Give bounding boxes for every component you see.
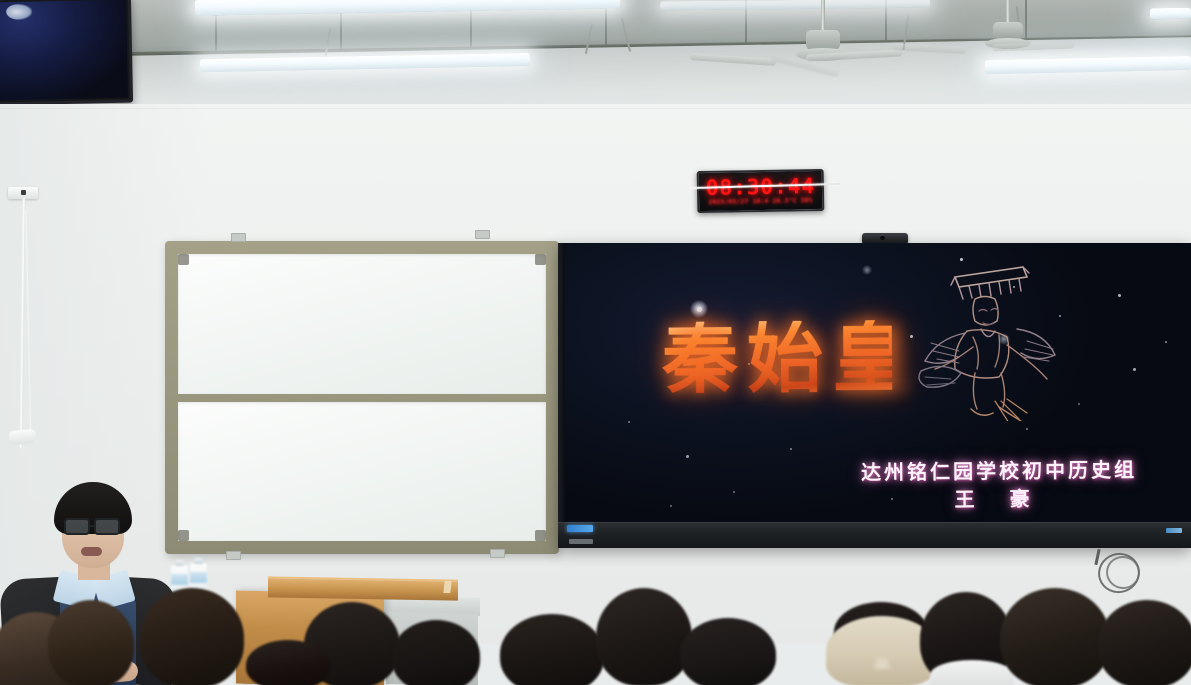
student-head	[246, 640, 330, 685]
student-head	[140, 588, 244, 685]
camera-lens-icon	[880, 236, 885, 240]
whiteboard-mount	[231, 233, 246, 242]
whiteboard-mount	[226, 551, 241, 560]
podium-marking	[443, 581, 451, 593]
whiteboard-panel-top[interactable]	[178, 254, 546, 394]
glasses-icon	[94, 518, 120, 535]
glasses-icon	[64, 518, 90, 535]
whiteboard-mount	[475, 230, 490, 239]
student-head	[500, 614, 604, 685]
student-head	[1000, 588, 1110, 685]
student-head	[596, 588, 692, 685]
bottle-cap	[194, 558, 203, 564]
clock-date: 2023/03/27 18:4 26.3°C 38%	[699, 197, 822, 206]
interactive-flat-panel[interactable]: 秦始皇 达州铭仁园学校初中历史组 王 豪	[558, 243, 1191, 548]
cap-logo-icon	[874, 658, 890, 668]
presentation-slide: 秦始皇 达州铭仁园学校初中历史组 王 豪	[558, 243, 1191, 522]
whiteboard-panel-bottom[interactable]	[178, 402, 546, 542]
slide-title: 秦始皇	[662, 320, 893, 398]
camera-sensor-bar	[862, 233, 908, 243]
slide-subtitle-presenter: 王 豪	[834, 481, 1164, 513]
student-head	[1098, 600, 1191, 685]
student-head	[48, 600, 134, 685]
whiteboard-mount	[490, 549, 505, 558]
fluorescent-light-icon	[1150, 8, 1191, 20]
student-shoulder	[930, 660, 1014, 685]
monitor-content-icon	[6, 4, 32, 21]
ceiling-fan-icon	[942, 0, 1074, 120]
display-brand-label	[569, 539, 593, 544]
emperor-sketch-icon	[903, 251, 1083, 421]
classroom-scene: 秦始皇 达州铭仁园学校初中历史组 王 豪 08:30:44 2023/03/27…	[0, 0, 1191, 685]
bottle-cap	[175, 560, 184, 566]
wall-sensor-indicator	[21, 190, 26, 195]
led-wall-clock: 08:30:44 2023/03/27 18:4 26.3°C 38%	[697, 169, 825, 213]
cord-end	[8, 429, 36, 446]
power-led-icon	[567, 525, 593, 532]
student-head	[680, 618, 776, 685]
glasses-bridge	[89, 525, 95, 527]
student-head	[392, 620, 480, 685]
wall-monitor[interactable]	[0, 0, 133, 105]
display-button[interactable]	[1166, 528, 1182, 533]
podium-top	[268, 576, 458, 600]
whiteboard[interactable]	[165, 241, 559, 554]
display-left-frame	[558, 243, 565, 522]
teacher-mouth	[81, 547, 102, 556]
display-bezel	[558, 522, 1191, 548]
monitor-screen	[0, 0, 128, 100]
bottle-label	[190, 572, 207, 583]
